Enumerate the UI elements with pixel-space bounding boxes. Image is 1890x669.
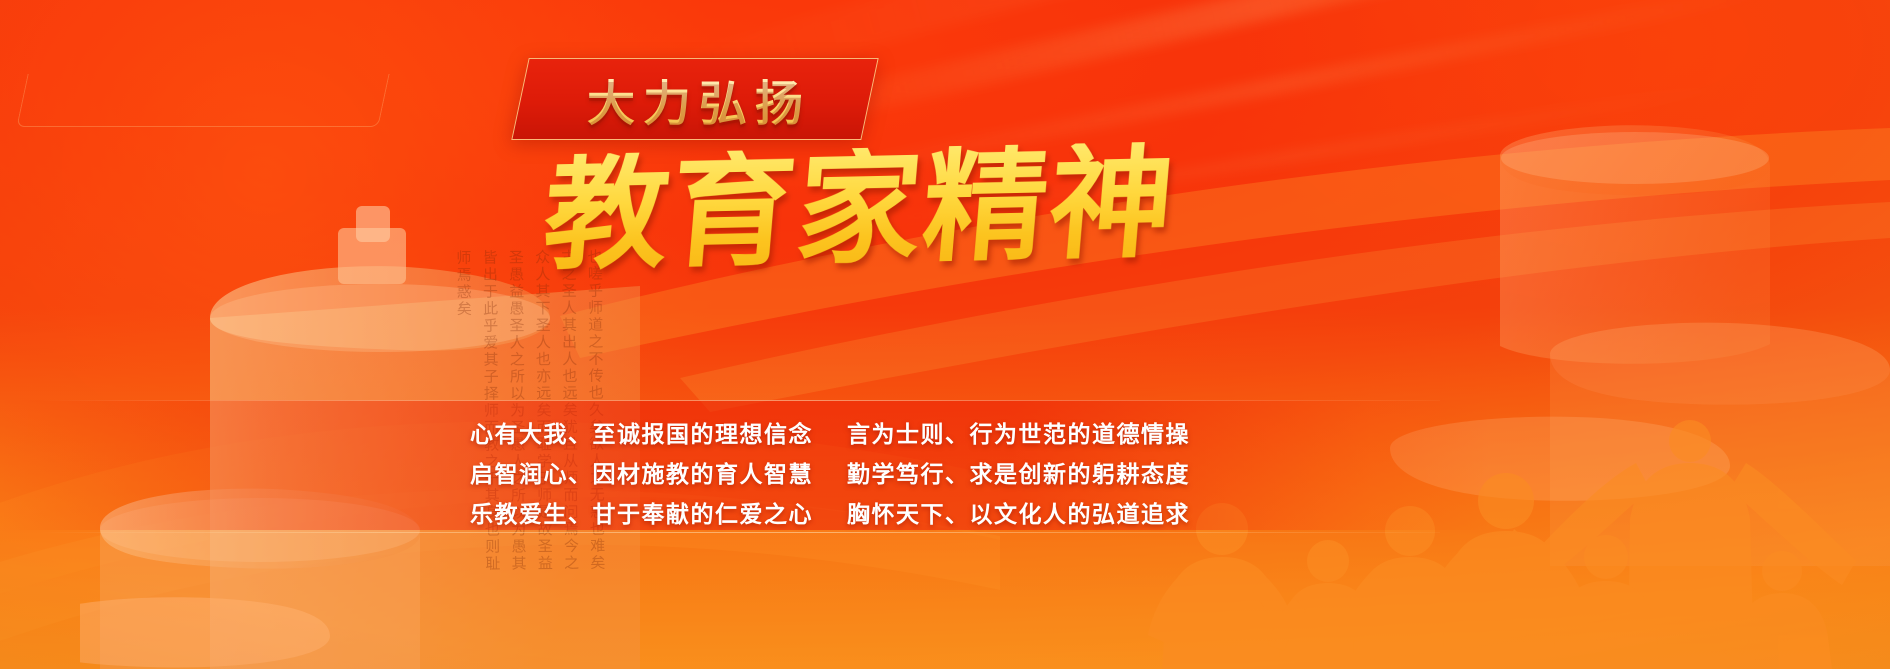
people-row-silhouette-icon bbox=[1148, 473, 1832, 669]
slogan-right: 勤学笃行、求是创新的躬耕态度 bbox=[847, 455, 1190, 489]
banner-label: 大力弘扬 bbox=[520, 58, 870, 140]
panel-divider-bottom bbox=[40, 532, 1440, 533]
slogan-list: 心有大我、至诚报国的理想信念 言为士则、行为世范的道德情操 启智润心、因材施教的… bbox=[470, 412, 1190, 532]
slogan-right: 胸怀天下、以文化人的弘道追求 bbox=[847, 495, 1190, 529]
page-title: 教育家精神 bbox=[539, 142, 1171, 279]
label-ghost-outline bbox=[16, 74, 389, 127]
teacher-silhouette-icon bbox=[1508, 420, 1856, 669]
education-spirit-banner: 也嗟乎师道之不传也久矣欲人之无惑也难矣古之圣人其出人也远矣犹且从师而问焉今之众人… bbox=[0, 0, 1890, 669]
slogan-left: 心有大我、至诚报国的理想信念 bbox=[470, 415, 813, 449]
slogan-left: 启智润心、因材施教的育人智慧 bbox=[470, 455, 813, 489]
slogan-left: 乐教爱生、甘于奉献的仁爱之心 bbox=[470, 495, 813, 529]
slogan-row: 乐教爱生、甘于奉献的仁爱之心 胸怀天下、以文化人的弘道追求 bbox=[470, 492, 1190, 532]
people-silhouette-icon bbox=[1130, 379, 1890, 669]
scroll-icon bbox=[1390, 96, 1890, 566]
slogan-row: 启智润心、因材施教的育人智慧 勤学笃行、求是创新的躬耕态度 bbox=[470, 452, 1190, 492]
label-text: 大力弘扬 bbox=[520, 58, 870, 140]
panel-divider-top bbox=[40, 400, 1440, 401]
slogan-row: 心有大我、至诚报国的理想信念 言为士则、行为世范的道德情操 bbox=[470, 412, 1190, 452]
slogan-right: 言为士则、行为世范的道德情操 bbox=[847, 415, 1190, 449]
